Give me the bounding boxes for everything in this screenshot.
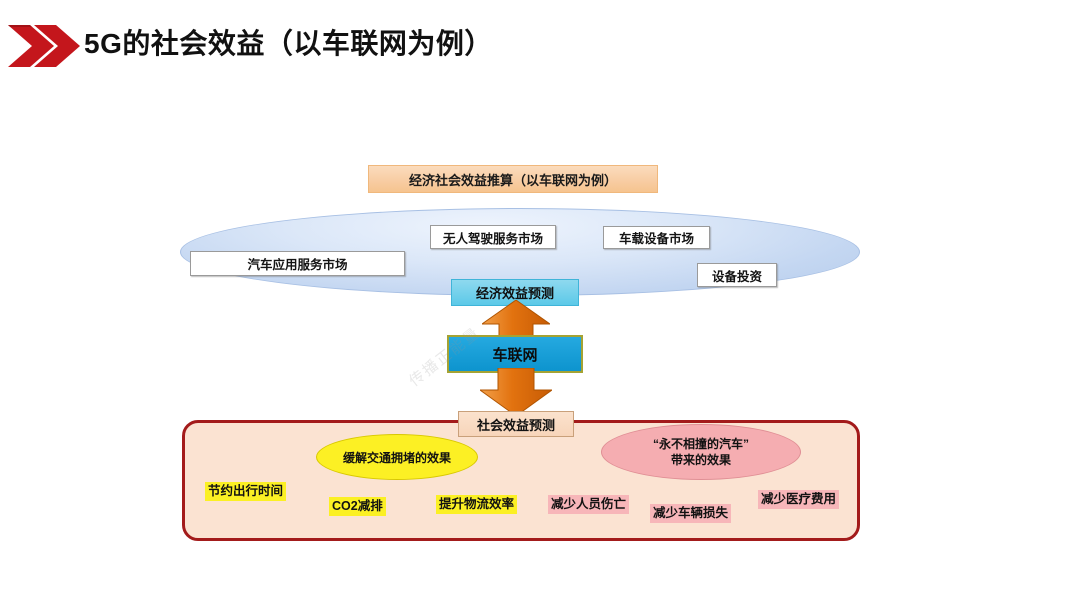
benefit-chip-medical-cost-reduction: 减少医疗费用 bbox=[758, 490, 839, 509]
collision-effect-line2: 带来的效果 bbox=[671, 452, 731, 468]
benefit-chip-travel-time: 节约出行时间 bbox=[205, 482, 286, 501]
traffic-congestion-effect-ellipse: 缓解交通拥堵的效果 bbox=[316, 434, 478, 480]
market-box-equipment-investment: 设备投资 bbox=[697, 263, 777, 287]
benefit-chip-vehicle-damage-reduction: 减少车辆损失 bbox=[650, 504, 731, 523]
benefit-chip-casualty-reduction: 减少人员伤亡 bbox=[548, 495, 629, 514]
diagram-banner: 经济社会效益推算（以车联网为例） bbox=[368, 165, 658, 193]
social-benefit-forecast-box: 社会效益预测 bbox=[458, 411, 574, 437]
collision-effect-line1: “永不相撞的汽车” bbox=[653, 436, 749, 452]
benefit-chip-co2-reduction: CO2减排 bbox=[329, 497, 386, 516]
market-box-autonomous-driving-service: 无人驾驶服务市场 bbox=[430, 225, 556, 249]
slide-canvas: 5G的社会效益（以车联网为例） 经济社会效益推算（以车联网为例） 汽车应用服务市… bbox=[0, 0, 1080, 613]
benefit-diagram: 经济社会效益推算（以车联网为例） 汽车应用服务市场 无人驾驶服务市场 车载设备市… bbox=[0, 0, 1080, 613]
collision-free-car-effect-ellipse: “永不相撞的汽车” 带来的效果 bbox=[601, 424, 801, 480]
market-box-invehicle-equipment: 车载设备市场 bbox=[603, 226, 710, 249]
benefit-chip-logistics-efficiency: 提升物流效率 bbox=[436, 495, 517, 514]
market-box-automotive-app-service: 汽车应用服务市场 bbox=[190, 251, 405, 276]
arrow-down-icon bbox=[480, 368, 552, 416]
